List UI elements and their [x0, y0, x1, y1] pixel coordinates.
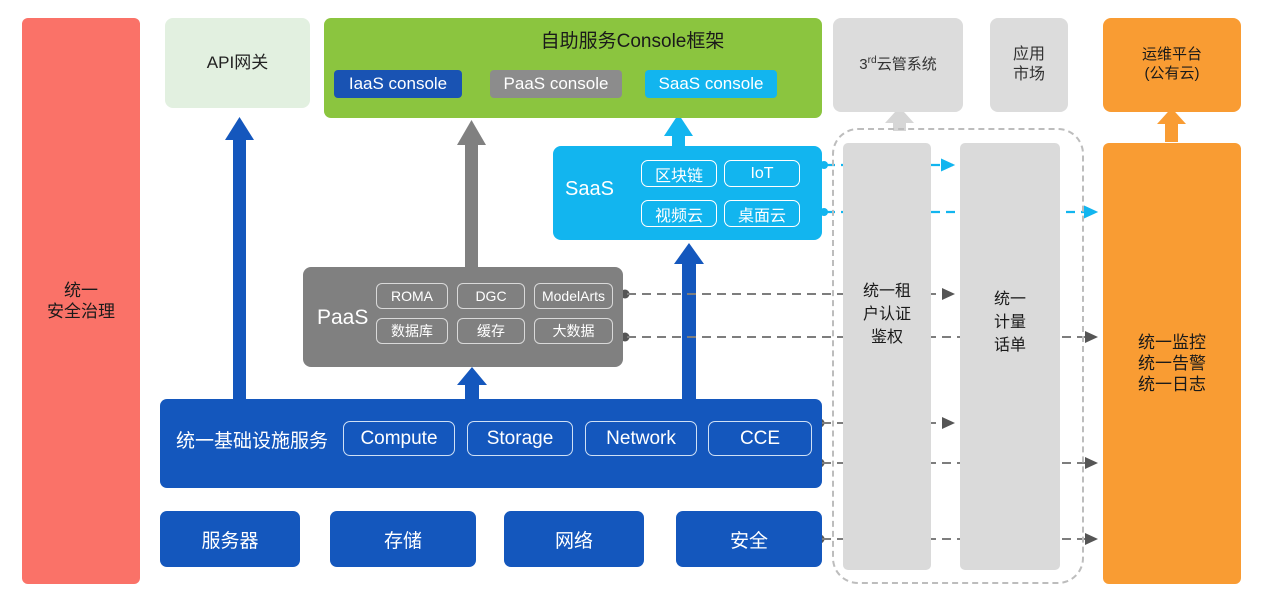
ops-platform-box[interactable]: 运维平台 (公有云)	[1103, 18, 1241, 112]
saas-chip-iot[interactable]: IoT	[724, 160, 800, 187]
saas-chip-blockchain[interactable]: 区块链	[641, 160, 717, 187]
paas-chip-cache[interactable]: 缓存	[457, 318, 525, 344]
metering-line-3: 话单	[960, 334, 1060, 357]
paas-chip-database[interactable]: 数据库	[376, 318, 448, 344]
ops-platform-line-2: (公有云)	[1142, 65, 1202, 84]
paas-chip-roma[interactable]: ROMA	[376, 283, 448, 309]
hardware-box-storage[interactable]: 存储	[330, 511, 476, 567]
app-market-box[interactable]: 应用 市场	[990, 18, 1068, 112]
arrow-infra-to-apigateway	[225, 117, 254, 400]
metering-line-1: 统一	[960, 288, 1060, 311]
ops-monitoring-column[interactable]: 统一监控 统一告警 统一日志	[1103, 143, 1241, 584]
security-line-2: 安全治理	[47, 301, 115, 322]
hardware-box-security[interactable]: 安全	[676, 511, 822, 567]
ops-column-line-1: 统一监控	[1138, 332, 1206, 353]
saas-chip-video-cloud[interactable]: 视频云	[641, 200, 717, 227]
api-gateway-label: API网关	[207, 52, 268, 73]
iaas-console-button[interactable]: IaaS console	[334, 70, 462, 98]
infra-chip-network[interactable]: Network	[585, 421, 697, 456]
auth-column	[843, 143, 931, 570]
ops-column-line-2: 统一告警	[1138, 353, 1206, 374]
infra-chip-compute[interactable]: Compute	[343, 421, 455, 456]
paas-layer-label: PaaS	[317, 306, 368, 330]
hardware-box-server[interactable]: 服务器	[160, 511, 300, 567]
saas-layer-label: SaaS	[565, 178, 614, 201]
auth-column-label: 统一租 户认证 鉴权	[843, 280, 931, 350]
auth-line-3: 鉴权	[843, 326, 931, 349]
third-party-cloud-management-box[interactable]: 3rd云管系统	[833, 18, 963, 112]
console-framework-title: 自助服务Console框架	[0, 26, 1265, 53]
paas-chip-bigdata[interactable]: 大数据	[534, 318, 613, 344]
ops-platform-line-1: 运维平台	[1142, 46, 1202, 65]
hardware-box-network[interactable]: 网络	[504, 511, 644, 567]
third-party-sup: rd	[868, 55, 877, 66]
metering-line-2: 计量	[960, 311, 1060, 334]
infra-chip-storage[interactable]: Storage	[467, 421, 573, 456]
infra-chip-cce[interactable]: CCE	[708, 421, 812, 456]
paas-chip-dgc[interactable]: DGC	[457, 283, 525, 309]
saas-console-button[interactable]: SaaS console	[645, 70, 777, 98]
metering-column-label: 统一 计量 话单	[960, 288, 1060, 358]
security-governance-panel[interactable]: 统一 安全治理	[22, 18, 140, 584]
ops-column-line-3: 统一日志	[1138, 374, 1206, 395]
arrow-saas-to-console	[664, 114, 693, 148]
saas-chip-desktop-cloud[interactable]: 桌面云	[724, 200, 800, 227]
paas-chip-modelarts[interactable]: ModelArts	[534, 283, 613, 309]
arrow-infra-to-paas	[457, 367, 487, 402]
arrow-into-ops-platform	[1157, 108, 1186, 142]
app-market-line-2: 市场	[1013, 65, 1045, 85]
infrastructure-layer-label: 统一基础设施服务	[176, 426, 328, 453]
paas-console-button[interactable]: PaaS console	[490, 70, 622, 98]
third-party-rest: 云管系统	[877, 56, 937, 73]
third-party-prefix: 3	[859, 56, 867, 73]
arrow-paas-to-console	[457, 120, 486, 268]
auth-line-1: 统一租	[843, 280, 931, 303]
security-line-1: 统一	[47, 280, 115, 301]
third-party-label: 3rd云管系统	[859, 55, 936, 75]
arrow-infra-to-saas	[674, 243, 704, 401]
auth-line-2: 户认证	[843, 303, 931, 326]
app-market-line-1: 应用	[1013, 45, 1045, 65]
architecture-diagram: 统一租 户认证 鉴权 统一 计量 话单 统一 安全治理 API网关 自助服务Co…	[0, 0, 1265, 605]
